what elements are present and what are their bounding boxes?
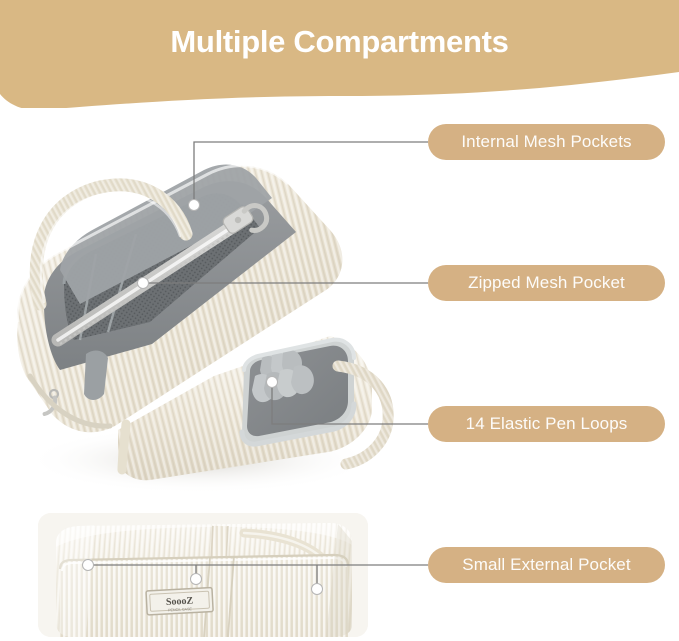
callout-label-elastic-pen-loops: 14 Elastic Pen Loops xyxy=(428,406,665,442)
callout-label-internal-mesh-pockets: Internal Mesh Pockets xyxy=(428,124,665,160)
callout-label-small-external-pocket: Small External Pocket xyxy=(428,547,665,583)
open-case-illustration xyxy=(0,108,400,498)
callout-label-zipped-mesh-pocket: Zipped Mesh Pocket xyxy=(428,265,665,301)
infographic-page: Multiple Compartments xyxy=(0,0,679,641)
brand-label-text: SoooZ xyxy=(166,596,194,608)
brand-label: SoooZ PENCIL CASE xyxy=(146,588,213,615)
page-title: Multiple Compartments xyxy=(0,22,679,62)
header-banner: Multiple Compartments xyxy=(0,0,679,112)
product-photo-closed-case: SoooZ PENCIL CASE xyxy=(38,513,368,637)
product-photo-open-case xyxy=(0,108,400,498)
closed-case-illustration: SoooZ PENCIL CASE xyxy=(38,513,368,637)
